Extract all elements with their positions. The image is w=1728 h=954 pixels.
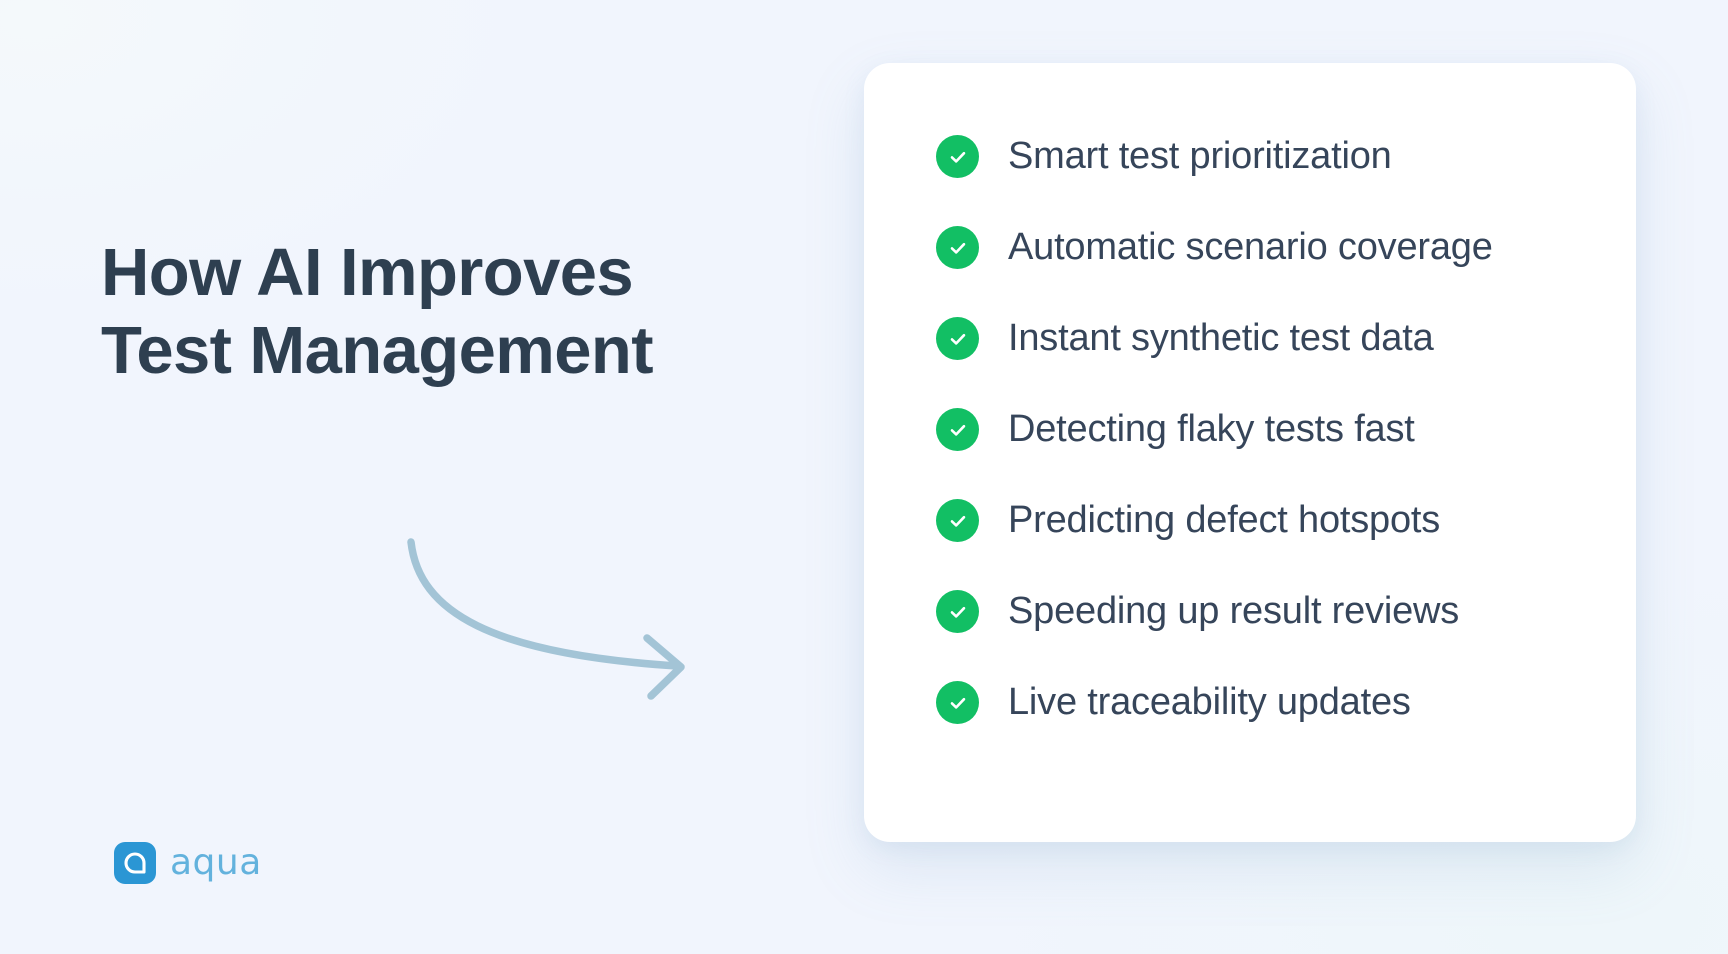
feature-label: Smart test prioritization (1008, 136, 1392, 178)
feature-label: Speeding up result reviews (1008, 591, 1459, 633)
list-item: Live traceability updates (936, 681, 1602, 724)
check-circle-icon (936, 590, 979, 633)
feature-label: Automatic scenario coverage (1008, 227, 1493, 269)
infographic-canvas: How AI Improves Test Management aqua (0, 0, 1728, 954)
left-pane: How AI Improves Test Management aqua (0, 0, 840, 954)
list-item: Predicting defect hotspots (936, 499, 1602, 542)
feature-card: Smart test prioritization Automatic scen… (864, 63, 1636, 842)
feature-label: Instant synthetic test data (1008, 318, 1434, 360)
list-item: Smart test prioritization (936, 135, 1602, 178)
feature-label: Detecting flaky tests fast (1008, 409, 1415, 451)
aqua-logo-mark-icon (114, 842, 156, 884)
page-title: How AI Improves Test Management (101, 234, 741, 391)
check-circle-icon (936, 135, 979, 178)
check-circle-icon (936, 408, 979, 451)
list-item: Instant synthetic test data (936, 317, 1602, 360)
feature-label: Predicting defect hotspots (1008, 500, 1440, 542)
check-circle-icon (936, 317, 979, 360)
curved-arrow-icon (395, 520, 715, 710)
aqua-logo[interactable]: aqua (114, 842, 262, 884)
feature-list: Smart test prioritization Automatic scen… (936, 135, 1602, 724)
list-item: Speeding up result reviews (936, 590, 1602, 633)
feature-label: Live traceability updates (1008, 682, 1411, 724)
check-circle-icon (936, 499, 979, 542)
check-circle-icon (936, 226, 979, 269)
list-item: Automatic scenario coverage (936, 226, 1602, 269)
check-circle-icon (936, 681, 979, 724)
list-item: Detecting flaky tests fast (936, 408, 1602, 451)
aqua-wordmark: aqua (170, 845, 262, 881)
